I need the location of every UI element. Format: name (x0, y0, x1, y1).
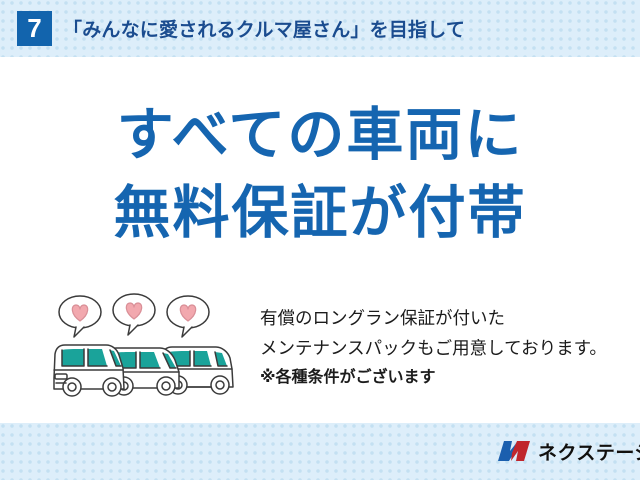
body-copy: 有償のロングラン保証が付いた メンテナンスパックもご用意しております。 ※各種条… (260, 303, 607, 393)
vehicle-kei-van (54, 345, 124, 396)
nextage-n-logo-icon (497, 439, 531, 463)
headline: すべての車両に 無料保証が付帯 (0, 96, 640, 252)
brand-logo: ネクステージ (497, 438, 640, 464)
lower-section: 有償のロングラン保証が付いた メンテナンスパックもご用意しております。 ※各種条… (0, 288, 640, 408)
body-copy-note: ※各種条件がございます (260, 363, 607, 393)
headline-line-2: 無料保証が付帯 (0, 174, 640, 252)
header: 7 「みんなに愛されるクルマ屋さん」を目指して (0, 0, 640, 57)
headline-line-1: すべての車両に (0, 96, 640, 174)
body-copy-line-2: メンテナンスパックもご用意しております。 (260, 333, 607, 363)
advertisement-banner: 7 「みんなに愛されるクルマ屋さん」を目指して すべての車両に 無料保証が付帯 (0, 0, 640, 480)
three-cars-with-heart-bubbles-illustration (48, 292, 248, 404)
body-copy-line-1: 有償のロングラン保証が付いた (260, 303, 607, 333)
section-number-badge: 7 (17, 11, 52, 46)
header-title: 「みんなに愛されるクルマ屋さん」を目指して (63, 15, 465, 42)
brand-name: ネクステージ (538, 438, 640, 465)
